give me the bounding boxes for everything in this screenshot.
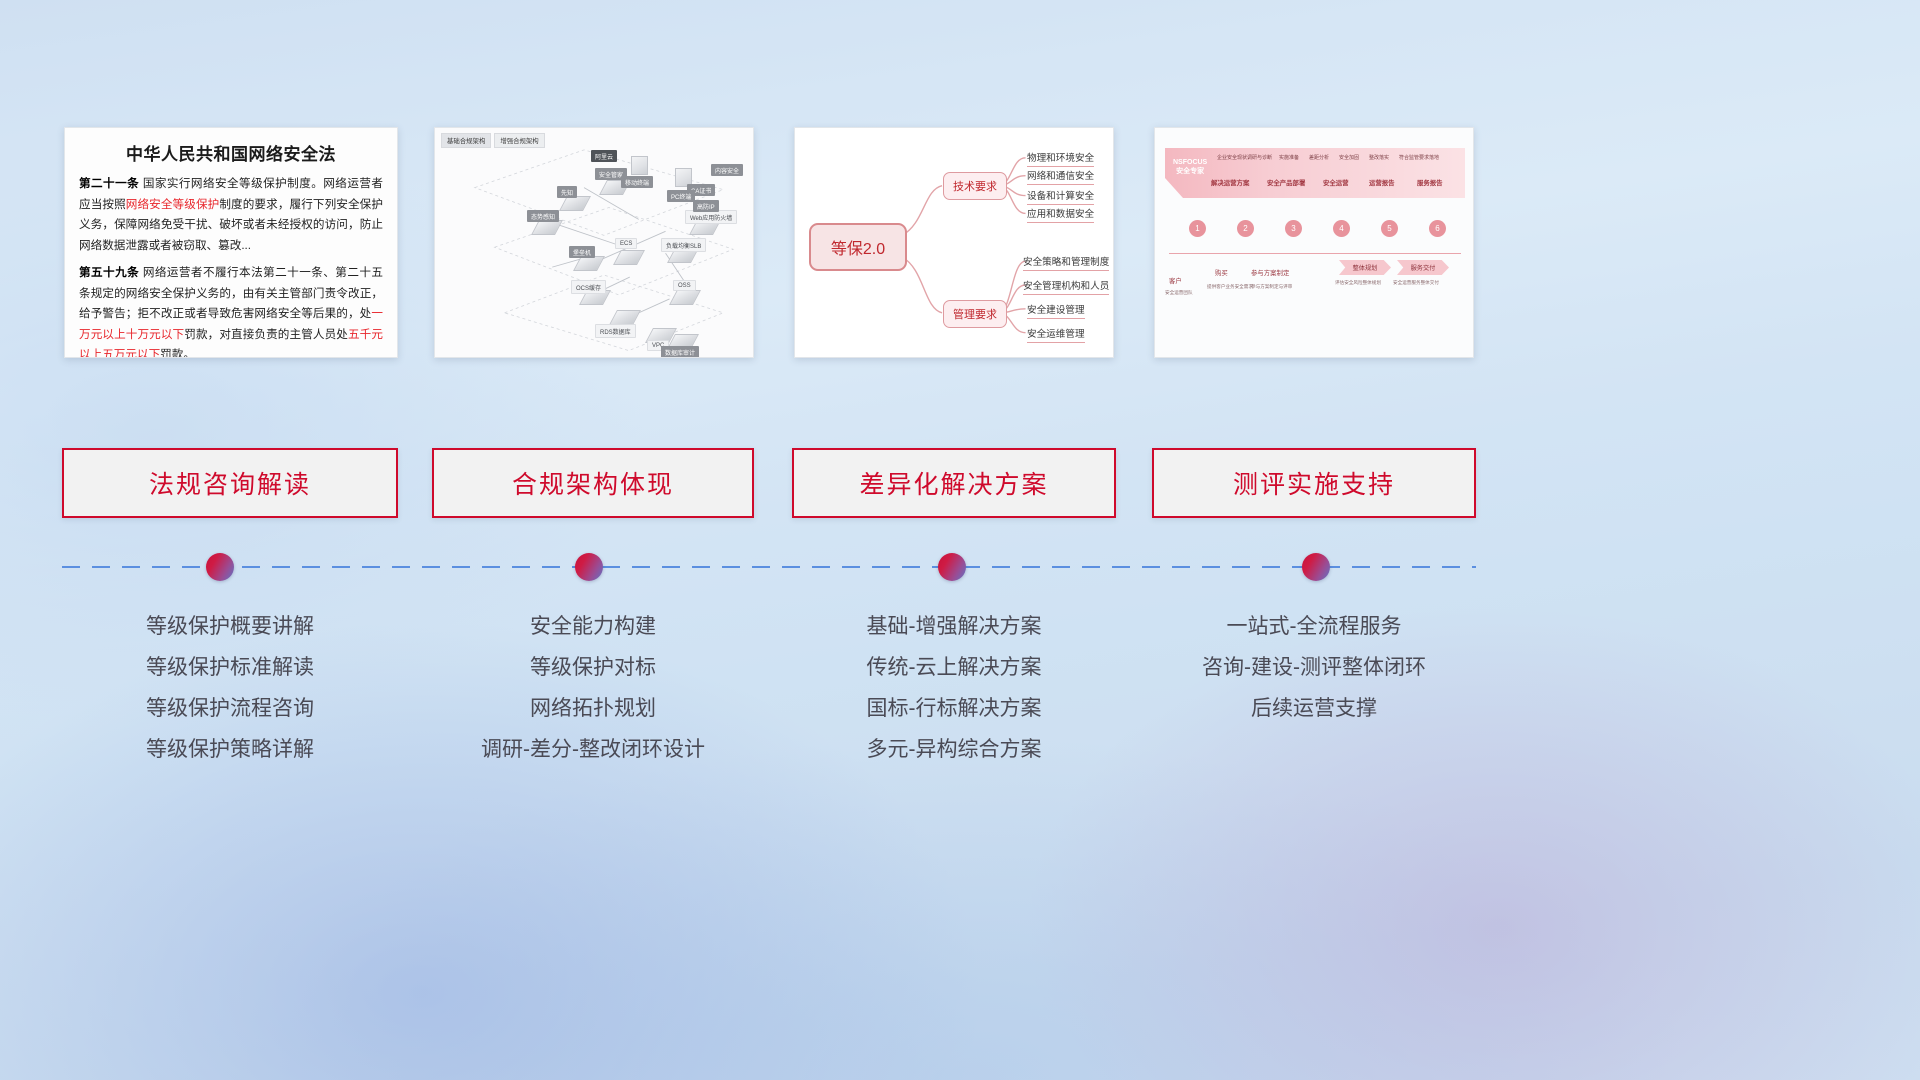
roadmap-lower-tag-sub-0: 提供客户业务安全需求	[1207, 284, 1253, 290]
mindmap-root-node: 等保2.0	[809, 223, 907, 271]
mindmap-leaf-network-comm: 网络和通信安全	[1027, 168, 1094, 185]
title-box-compliance-architecture[interactable]: 合规架构体现	[432, 448, 754, 518]
arch-node-waf: Web应用防火墙	[685, 210, 737, 224]
list-item: 后续运营支撑	[1152, 688, 1476, 729]
roadmap-step-6: 6	[1429, 220, 1446, 237]
timeline-dot-1[interactable]	[575, 553, 603, 581]
timeline-dot-3[interactable]	[1302, 553, 1330, 581]
arch-node-xianzhi: 先知	[557, 186, 577, 198]
arch-node-ecs: ECS	[615, 238, 637, 249]
list-column-3: 一站式-全流程服务 咨询-建设-测评整体闭环 后续运营支撑	[1152, 606, 1476, 729]
arch-node-rds: RDS数据库	[595, 324, 636, 338]
mindmap-leaf-device-compute: 设备和计算安全	[1027, 188, 1094, 205]
list-item: 网络拓扑规划	[432, 688, 754, 729]
mindmap-leaf-physical-env: 物理和环境安全	[1027, 150, 1094, 167]
mindmap-leaf-policy-system: 安全策略和管理制度	[1023, 254, 1109, 271]
arch-node-ocs: OCS缓存	[571, 280, 606, 294]
arch-node-gaofangip: 高防IP	[693, 200, 719, 212]
mindmap-branch-management: 管理要求	[943, 300, 1007, 328]
roadmap-lower-tag-0: 购买	[1215, 268, 1228, 277]
mindmap-leaf-org-personnel: 安全管理机构和人员	[1023, 278, 1109, 295]
roadmap-subhead-2: 安全运营	[1323, 178, 1349, 187]
preview-card-roadmap[interactable]: NSFOCUS 安全专家 企业安全现状调研与诊断 实施准备 差距分析 安全加固 …	[1154, 127, 1474, 358]
roadmap-header-5: 符合监管要求落地	[1399, 154, 1439, 161]
list-item: 等级保护流程咨询	[62, 688, 398, 729]
roadmap-timeline	[1169, 253, 1461, 254]
roadmap-chevron-sub-1: 安全运营服务整体交付	[1393, 280, 1439, 286]
list-column-2: 基础-增强解决方案 传统-云上解决方案 国标-行标解决方案 多元-异构综合方案	[792, 606, 1116, 770]
roadmap-header-4: 整改落实	[1369, 154, 1389, 161]
roadmap-header-0: 企业安全现状调研与诊断	[1217, 154, 1272, 161]
list-item: 传统-云上解决方案	[792, 647, 1116, 688]
timeline-dot-2[interactable]	[938, 553, 966, 581]
roadmap-chevron-1: 服务交付	[1397, 260, 1449, 275]
title-label-0: 法规咨询解读	[149, 465, 311, 501]
preview-card-architecture[interactable]: 基础合规架构 增强合规架构	[434, 127, 754, 358]
timeline-dot-0[interactable]	[206, 553, 234, 581]
roadmap-step-1: 1	[1189, 220, 1206, 237]
list-item: 等级保护概要讲解	[62, 606, 398, 647]
title-box-differentiated-solution[interactable]: 差异化解决方案	[792, 448, 1116, 518]
title-label-1: 合规架构体现	[512, 465, 674, 501]
timeline-dashed-line	[62, 566, 1476, 568]
roadmap-step-3: 3	[1285, 220, 1302, 237]
roadmap-lower-tag-sub-1: 参与方案制定与评审	[1251, 284, 1292, 290]
list-item: 等级保护标准解读	[62, 647, 398, 688]
law-article-59: 第五十九条 网络运营者不履行本法第二十一条、第二十五条规定的网络安全保护义务的，…	[79, 263, 383, 358]
roadmap-step-2: 2	[1237, 220, 1254, 237]
roadmap-header-1: 实施准备	[1279, 154, 1299, 161]
roadmap-lower-tag-1: 参与方案制定	[1251, 268, 1289, 277]
mindmap-leaf-build-mgmt: 安全建设管理	[1027, 302, 1085, 319]
law-article-59-text-b: 罚款，对直接负责的主管人员处	[184, 328, 348, 341]
roadmap-step-5: 5	[1381, 220, 1398, 237]
list-item: 调研-差分-整改闭环设计	[432, 729, 754, 770]
roadmap-client-sub: 安全运营团队	[1165, 290, 1193, 296]
arch-node-slb: 负载均衡SLB	[661, 238, 706, 252]
law-article-59-text-c: 罚款。	[160, 348, 195, 358]
list-item: 国标-行标解决方案	[792, 688, 1116, 729]
roadmap-step-4: 4	[1333, 220, 1350, 237]
arch-node-content: 内容安全	[711, 164, 743, 176]
roadmap-brand-sub: 安全专家	[1173, 167, 1207, 176]
list-item: 一站式-全流程服务	[1152, 606, 1476, 647]
preview-card-mindmap[interactable]: 等保2.0 技术要求 管理要求 物理和环境安全 网络和通信安全 设备和计算安全 …	[794, 127, 1114, 358]
roadmap-brand-name: NSFOCUS	[1173, 158, 1207, 167]
roadmap-subhead-3: 运营报告	[1369, 178, 1395, 187]
preview-card-law[interactable]: 中华人民共和国网络安全法 第二十一条 国家实行网络安全等级保护制度。网络运营者应…	[64, 127, 398, 358]
law-article-21-highlight: 网络安全等级保护	[126, 198, 220, 211]
law-title: 中华人民共和国网络安全法	[79, 140, 383, 165]
law-article-59-label: 第五十九条	[79, 266, 139, 279]
arch-tile-mobile	[631, 156, 648, 175]
list-item: 咨询-建设-测评整体闭环	[1152, 647, 1476, 688]
mindmap-leaf-ops-mgmt: 安全运维管理	[1027, 326, 1085, 343]
mindmap-branch-technical: 技术要求	[943, 172, 1007, 200]
roadmap-brand: NSFOCUS 安全专家	[1173, 158, 1207, 176]
title-label-2: 差异化解决方案	[859, 465, 1048, 501]
title-box-assessment-support[interactable]: 测评实施支持	[1152, 448, 1476, 518]
roadmap-header-2: 差距分析	[1309, 154, 1329, 161]
title-label-3: 测评实施支持	[1233, 465, 1395, 501]
roadmap-chevron-0: 整体规划	[1339, 260, 1391, 275]
roadmap-chevron-sub-0: 评估安全风险整体规划	[1335, 280, 1381, 286]
roadmap-subhead-0: 解决运营方案	[1211, 178, 1249, 187]
slide-canvas: 中华人民共和国网络安全法 第二十一条 国家实行网络安全等级保护制度。网络运营者应…	[0, 0, 1920, 1080]
arch-node-mobile: 移动终端	[621, 176, 653, 188]
list-item: 等级保护策略详解	[62, 729, 398, 770]
list-item: 基础-增强解决方案	[792, 606, 1116, 647]
arch-node-pc: PC终端	[667, 190, 695, 202]
roadmap-subhead-4: 服务报告	[1417, 178, 1443, 187]
list-column-1: 安全能力构建 等级保护对标 网络拓扑规划 调研-差分-整改闭环设计	[432, 606, 754, 770]
arch-node-dbaudit: 数据库审计	[661, 346, 699, 358]
law-article-21: 第二十一条 国家实行网络安全等级保护制度。网络运营者应当按照网络安全等级保护制度…	[79, 174, 383, 256]
law-article-21-label: 第二十一条	[79, 177, 139, 190]
list-column-0: 等级保护概要讲解 等级保护标准解读 等级保护流程咨询 等级保护策略详解	[62, 606, 398, 770]
roadmap-header-3: 安全加固	[1339, 154, 1359, 161]
arch-node-baolei: 堡垒机	[569, 246, 595, 258]
arch-node-oss: OSS	[673, 280, 696, 291]
roadmap-subhead-1: 安全产品部署	[1267, 178, 1305, 187]
mindmap-leaf-app-data: 应用和数据安全	[1027, 206, 1094, 223]
roadmap-client-label: 客户	[1169, 276, 1182, 285]
arch-node-taishiganzhi: 态势感知	[527, 210, 559, 222]
list-item: 安全能力构建	[432, 606, 754, 647]
list-item: 等级保护对标	[432, 647, 754, 688]
title-box-legal-consulting[interactable]: 法规咨询解读	[62, 448, 398, 518]
list-item: 多元-异构综合方案	[792, 729, 1116, 770]
arch-node-aliyun: 阿里云	[591, 150, 617, 162]
